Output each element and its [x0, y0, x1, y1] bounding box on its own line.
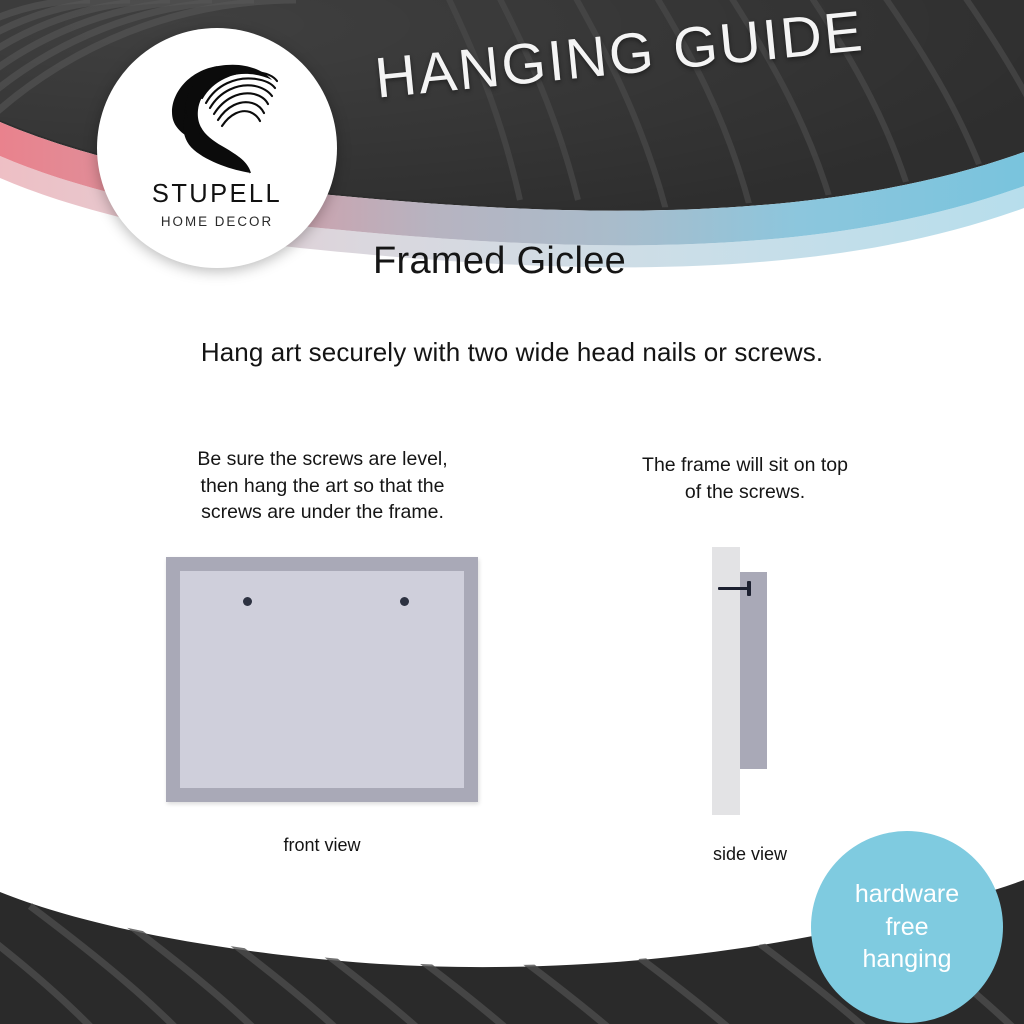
- badge-line-3: hanging: [863, 943, 952, 976]
- badge-line-2: free: [885, 911, 928, 944]
- product-name: Framed Giclee: [373, 240, 626, 283]
- side-view-frame: [740, 572, 767, 769]
- brand-name: STUPELL: [152, 182, 282, 208]
- hanging-guide-page: STUPELL HOME DECOR HANGING GUIDE Framed …: [0, 0, 1024, 1024]
- front-view-label: front view: [170, 835, 474, 856]
- front-view-mat: [180, 571, 464, 788]
- side-view-caption-line-2: of the screws.: [600, 479, 890, 506]
- page-title: HANGING GUIDE: [372, 0, 896, 112]
- brand-logo-badge: STUPELL HOME DECOR: [97, 28, 337, 268]
- side-view-caption: The frame will sit on top of the screws.: [600, 452, 890, 505]
- front-view-caption-line-3: screws are under the frame.: [150, 499, 495, 526]
- front-view-caption-line-2: then hang the art so that the: [150, 473, 495, 500]
- hardware-free-hanging-badge: hardware free hanging: [811, 831, 1003, 1023]
- badge-line-1: hardware: [855, 878, 959, 911]
- brand-tagline: HOME DECOR: [161, 215, 273, 228]
- front-view-caption: Be sure the screws are level, then hang …: [150, 446, 495, 526]
- side-view-nail-head-icon: [747, 581, 751, 596]
- side-view-caption-line-1: The frame will sit on top: [600, 452, 890, 479]
- lead-instruction: Hang art securely with two wide head nai…: [0, 337, 1024, 368]
- stupell-swoosh-logo-icon: [156, 58, 278, 176]
- front-view-caption-line-1: Be sure the screws are level,: [150, 446, 495, 473]
- front-view-frame-diagram: [166, 557, 478, 802]
- side-view-nail-shaft-icon: [718, 587, 750, 590]
- side-view-label: side view: [640, 844, 860, 865]
- screw-dot-left: [243, 597, 252, 606]
- screw-dot-right: [400, 597, 409, 606]
